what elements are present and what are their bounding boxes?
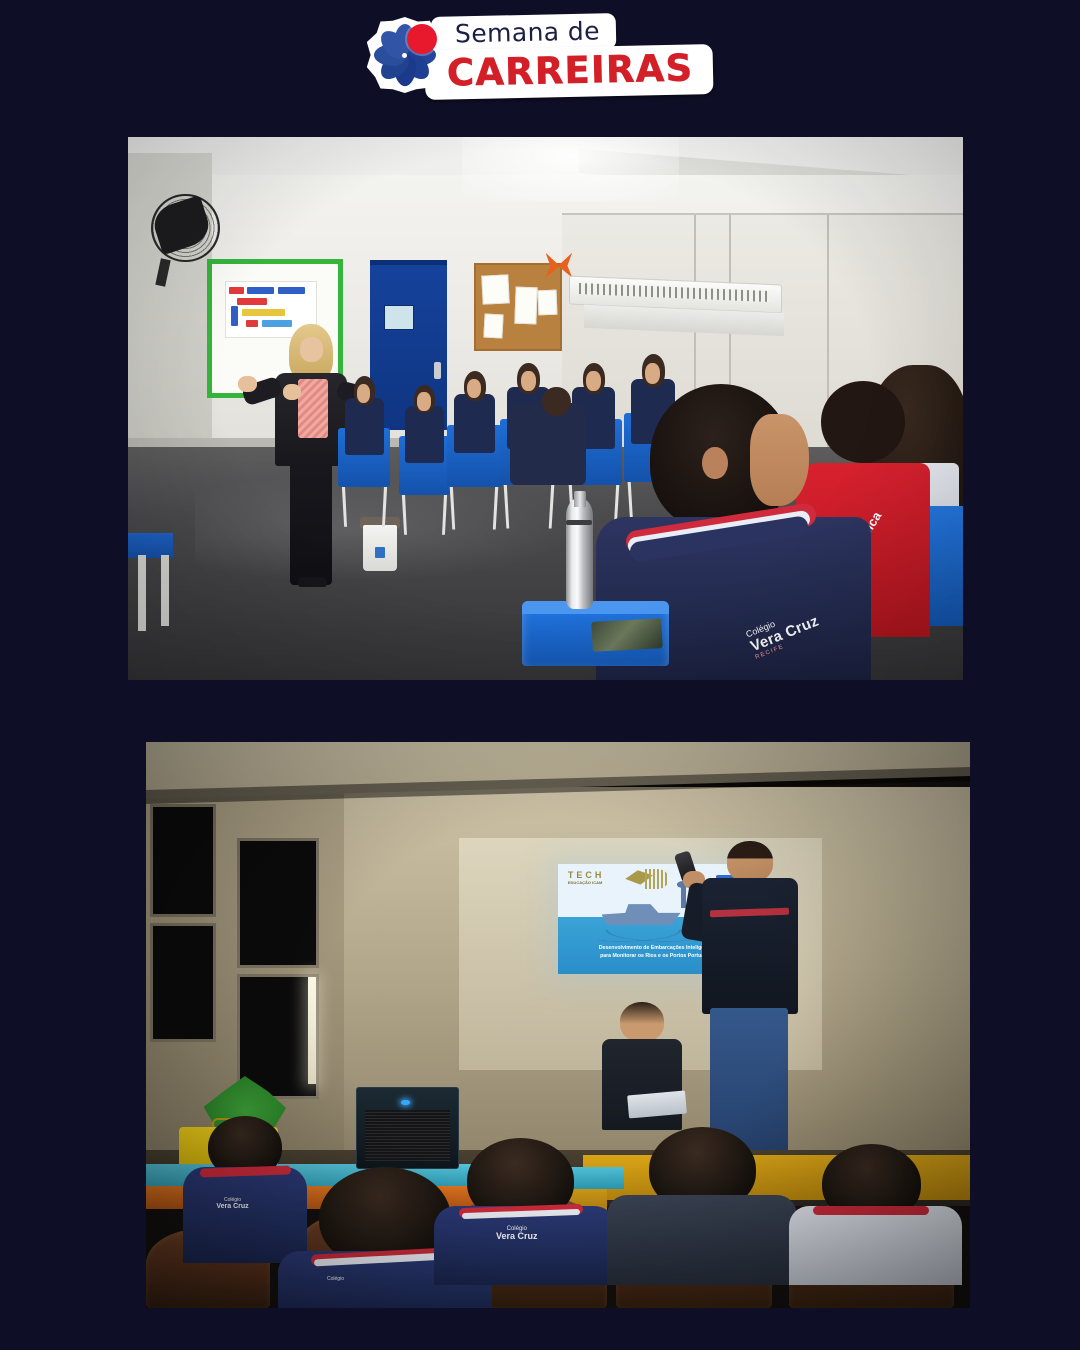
pinned-note <box>482 274 510 304</box>
chair-legs <box>503 481 554 529</box>
chair-legs <box>401 492 447 535</box>
poster-swatch <box>247 287 274 294</box>
window <box>150 923 216 1042</box>
auditorium-scene: TECH EDUCAÇÃO ICAM Desenvolvimento de Em… <box>146 742 970 1308</box>
pinned-note <box>538 290 557 316</box>
poster-swatch <box>262 320 293 327</box>
student-face <box>357 384 370 402</box>
trash-bin-label <box>375 547 385 558</box>
seated-student <box>447 373 502 487</box>
fingerprint-bars-icon <box>645 869 669 889</box>
uniform-logo-vera-cruz: Colégio <box>294 1277 376 1282</box>
slide-logo-text: TECH <box>568 870 605 880</box>
door-window <box>384 305 414 330</box>
presenter-left-hand <box>238 376 256 392</box>
table-leg <box>161 555 169 626</box>
pinned-note <box>484 313 504 337</box>
stainless-water-bottle <box>566 498 594 609</box>
poster-swatch <box>242 309 285 316</box>
audience-uniform-shirt <box>183 1167 307 1263</box>
window <box>150 804 216 917</box>
floor-student-head <box>542 387 570 416</box>
logo-wordmark: Semana de CARREIRAS <box>425 13 713 97</box>
student-head-red-shirt <box>821 381 905 462</box>
logo-plate-bottom: CARREIRAS <box>424 44 713 100</box>
poster-swatch <box>229 287 243 294</box>
presenter-blouse <box>298 379 328 439</box>
chair-legs <box>341 484 387 527</box>
audience-white-polo <box>789 1206 962 1285</box>
slide-logo-subtext: EDUCAÇÃO ICAM <box>568 880 639 885</box>
student-sitting-on-floor <box>510 403 585 484</box>
photo-auditorium: TECH EDUCAÇÃO ICAM Desenvolvimento de Em… <box>146 742 970 1308</box>
window <box>237 838 319 968</box>
logo-line-2: CARREIRAS <box>446 46 693 94</box>
bottle-cap <box>574 491 586 507</box>
seated-presenter-head <box>620 1002 664 1042</box>
rosette-center-dot <box>402 53 407 58</box>
pinned-note <box>514 286 537 324</box>
bottle-collar-ring <box>566 520 592 525</box>
photo-classroom: Ed. Física Colégio Vera Cruz RECIFE <box>128 137 963 680</box>
student-face <box>586 371 601 391</box>
speaker-power-led <box>401 1100 409 1106</box>
polo-collar-red <box>813 1206 928 1215</box>
water-waves-icon <box>598 930 689 943</box>
boat-icon <box>602 901 681 925</box>
speaker-grille <box>365 1110 450 1161</box>
student-torso <box>454 394 496 453</box>
chair-desk-lip <box>522 601 669 614</box>
red-circle-accent-icon <box>407 24 437 54</box>
poster-swatch <box>246 320 259 327</box>
student-torso <box>345 398 384 454</box>
classroom-scene: Ed. Física Colégio Vera Cruz RECIFE <box>128 137 963 680</box>
door-handle <box>434 362 442 378</box>
uniform-logo-line2: Vera Cruz <box>459 1232 574 1241</box>
uniform-logo-vera-cruz: Colégio Vera Cruz <box>191 1198 273 1211</box>
rosette-flower-mark-icon <box>367 17 443 93</box>
audience-uniform-shirt <box>434 1206 615 1285</box>
presenter-tshirt <box>702 878 798 1014</box>
logo-line-1: Semana de <box>454 16 599 48</box>
ceiling-light-glow <box>462 137 679 202</box>
student-face <box>521 371 536 391</box>
poster-swatch <box>237 298 268 305</box>
uniform-logo-vera-cruz: Colégio Vera Cruz <box>459 1226 574 1242</box>
smartphone-on-desk <box>592 618 664 652</box>
fluorescent-tube-light <box>308 977 316 1085</box>
semana-de-carreiras-logo: Semana de CARREIRAS <box>367 16 713 94</box>
seated-student <box>399 387 451 496</box>
slide-tech-logo: TECH EDUCAÇÃO ICAM <box>568 870 639 899</box>
presenter-head <box>727 841 773 882</box>
presenter-shoe <box>298 577 326 587</box>
presenter-right-hand <box>283 384 301 400</box>
poster-swatch <box>278 287 305 294</box>
audience-hoodie <box>607 1195 797 1286</box>
table-leg <box>138 555 146 631</box>
poster-swatch <box>231 306 238 326</box>
uniform-logo-line1: Colégio <box>294 1277 376 1282</box>
presenter-legs <box>290 455 332 585</box>
uniform-logo-line2: Vera Cruz <box>191 1203 273 1210</box>
student-face <box>417 392 430 410</box>
seated-student <box>338 379 390 488</box>
student-torso <box>405 406 444 462</box>
foreground-student-ear <box>702 447 727 480</box>
header-logo-bar: Semana de CARREIRAS <box>0 0 1080 110</box>
cork-board <box>474 263 563 351</box>
boat-mast <box>681 886 686 908</box>
student-face <box>467 379 481 398</box>
student-face <box>645 363 660 384</box>
presenter-face <box>300 337 323 362</box>
foreground-student-face <box>750 414 808 506</box>
chair-legs <box>450 484 499 530</box>
